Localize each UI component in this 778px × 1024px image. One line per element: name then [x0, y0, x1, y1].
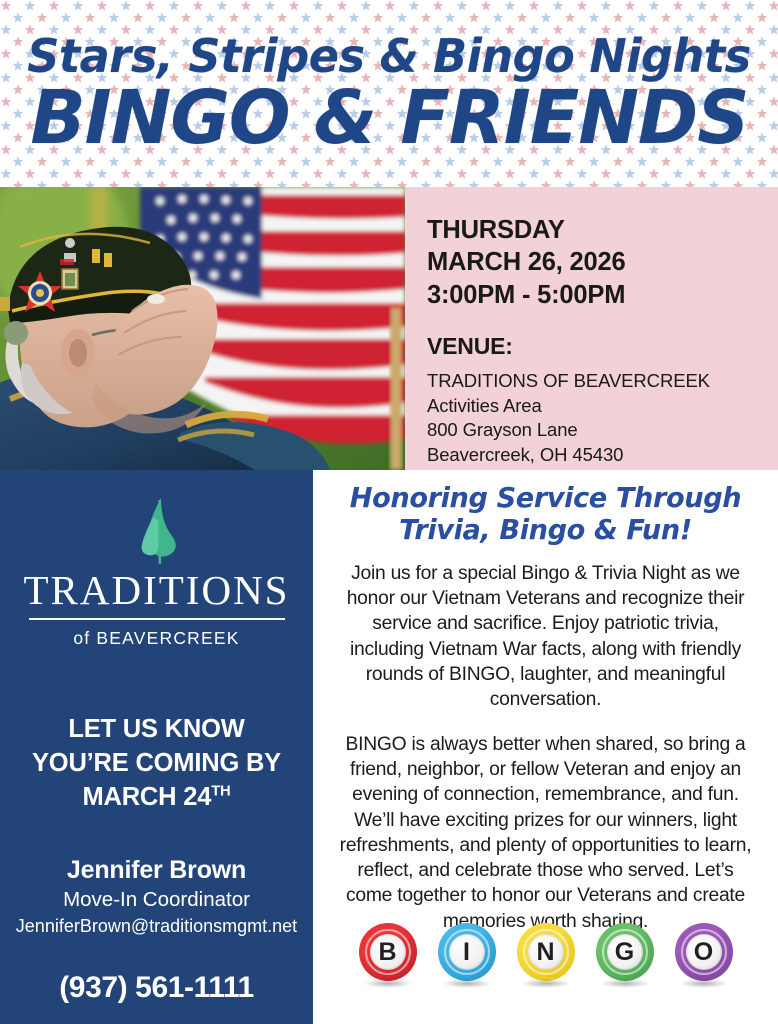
page-title: BINGO & FRIENDS: [30, 81, 748, 155]
ball-letter: N: [536, 940, 554, 965]
rsvp-deadline: MARCH 24TH: [0, 781, 313, 815]
ball-disc: N: [528, 934, 564, 970]
hero-band: THURSDAY MARCH 26, 2026 3:00PM - 5:00PM …: [0, 187, 778, 470]
event-details-panel: THURSDAY MARCH 26, 2026 3:00PM - 5:00PM …: [405, 187, 778, 470]
ball-disc: B: [370, 934, 406, 970]
bingo-ball-n: N: [517, 923, 575, 981]
ball-letter: O: [694, 940, 713, 965]
event-time: 3:00PM - 5:00PM: [427, 279, 778, 311]
rsvp-callout: LET US KNOW YOU’RE COMING BY MARCH 24TH: [0, 713, 313, 815]
header-banner: Stars, Stripes & Bingo Nights BINGO & FR…: [0, 0, 778, 187]
ball-disc: G: [607, 934, 643, 970]
bingo-ball-i: I: [438, 923, 496, 981]
contact-email[interactable]: JenniferBrown@traditionsmgmt.net: [0, 916, 313, 938]
logo-sub-of: of: [73, 628, 96, 648]
body-paragraph-1: Join us for a special Bingo & Trivia Nig…: [335, 561, 756, 713]
ball-shadow: [600, 979, 650, 988]
venue-name: TRADITIONS OF BEAVERCREEK: [427, 369, 778, 394]
veteran-salute-photo: [0, 187, 405, 470]
ball-disc: I: [449, 934, 485, 970]
venue-city: Beavercreek, OH 45430: [427, 443, 778, 468]
venue-street: 800 Grayson Lane: [427, 418, 778, 443]
rsvp-deadline-ordinal: TH: [211, 783, 230, 799]
logo-subtitle: of BEAVERCREEK: [0, 628, 313, 649]
traditions-logo: TRADITIONS of BEAVERCREEK: [0, 496, 313, 649]
contact-role: Move-In Coordinator: [0, 888, 313, 913]
venue-area: Activities Area: [427, 394, 778, 419]
bingo-balls-row: BINGO: [313, 912, 778, 992]
logo-wordmark: TRADITIONS: [0, 570, 313, 611]
ball-shadow: [363, 979, 413, 988]
ball-letter: B: [378, 940, 396, 965]
content-subheading: Honoring Service Through Trivia, Bingo &…: [341, 482, 749, 547]
event-day: THURSDAY: [427, 214, 778, 246]
logo-divider: [29, 618, 285, 620]
subheading-line-2: Trivia, Bingo & Fun!: [341, 514, 749, 546]
bingo-ball-g: G: [596, 923, 654, 981]
logo-sub-place: BEAVERCREEK: [96, 628, 239, 648]
contact-name: Jennifer Brown: [0, 857, 313, 885]
bingo-ball-o: O: [675, 923, 733, 981]
flyer-page: Stars, Stripes & Bingo Nights BINGO & FR…: [0, 0, 778, 1024]
header-kicker: Stars, Stripes & Bingo Nights: [27, 33, 750, 79]
event-date: MARCH 26, 2026: [427, 246, 778, 278]
ball-shadow: [679, 979, 729, 988]
ball-shadow: [442, 979, 492, 988]
ball-letter: I: [463, 940, 470, 965]
venue-label: VENUE:: [427, 335, 778, 358]
rsvp-line-2: YOU’RE COMING BY: [0, 747, 313, 781]
ball-disc: O: [686, 934, 722, 970]
body-paragraph-2: BINGO is always better when shared, so b…: [335, 732, 756, 934]
ball-shadow: [521, 979, 571, 988]
bingo-ball-b: B: [359, 923, 417, 981]
traditions-leaf-mark: [128, 496, 186, 566]
ball-letter: G: [615, 940, 634, 965]
rsvp-line-1: LET US KNOW: [0, 713, 313, 747]
sidebar-panel: TRADITIONS of BEAVERCREEK LET US KNOW YO…: [0, 470, 313, 1024]
contact-phone[interactable]: (937) 561-1111: [0, 973, 313, 1003]
subheading-line-1: Honoring Service Through: [341, 482, 749, 514]
rsvp-deadline-date: MARCH 24: [82, 783, 211, 811]
